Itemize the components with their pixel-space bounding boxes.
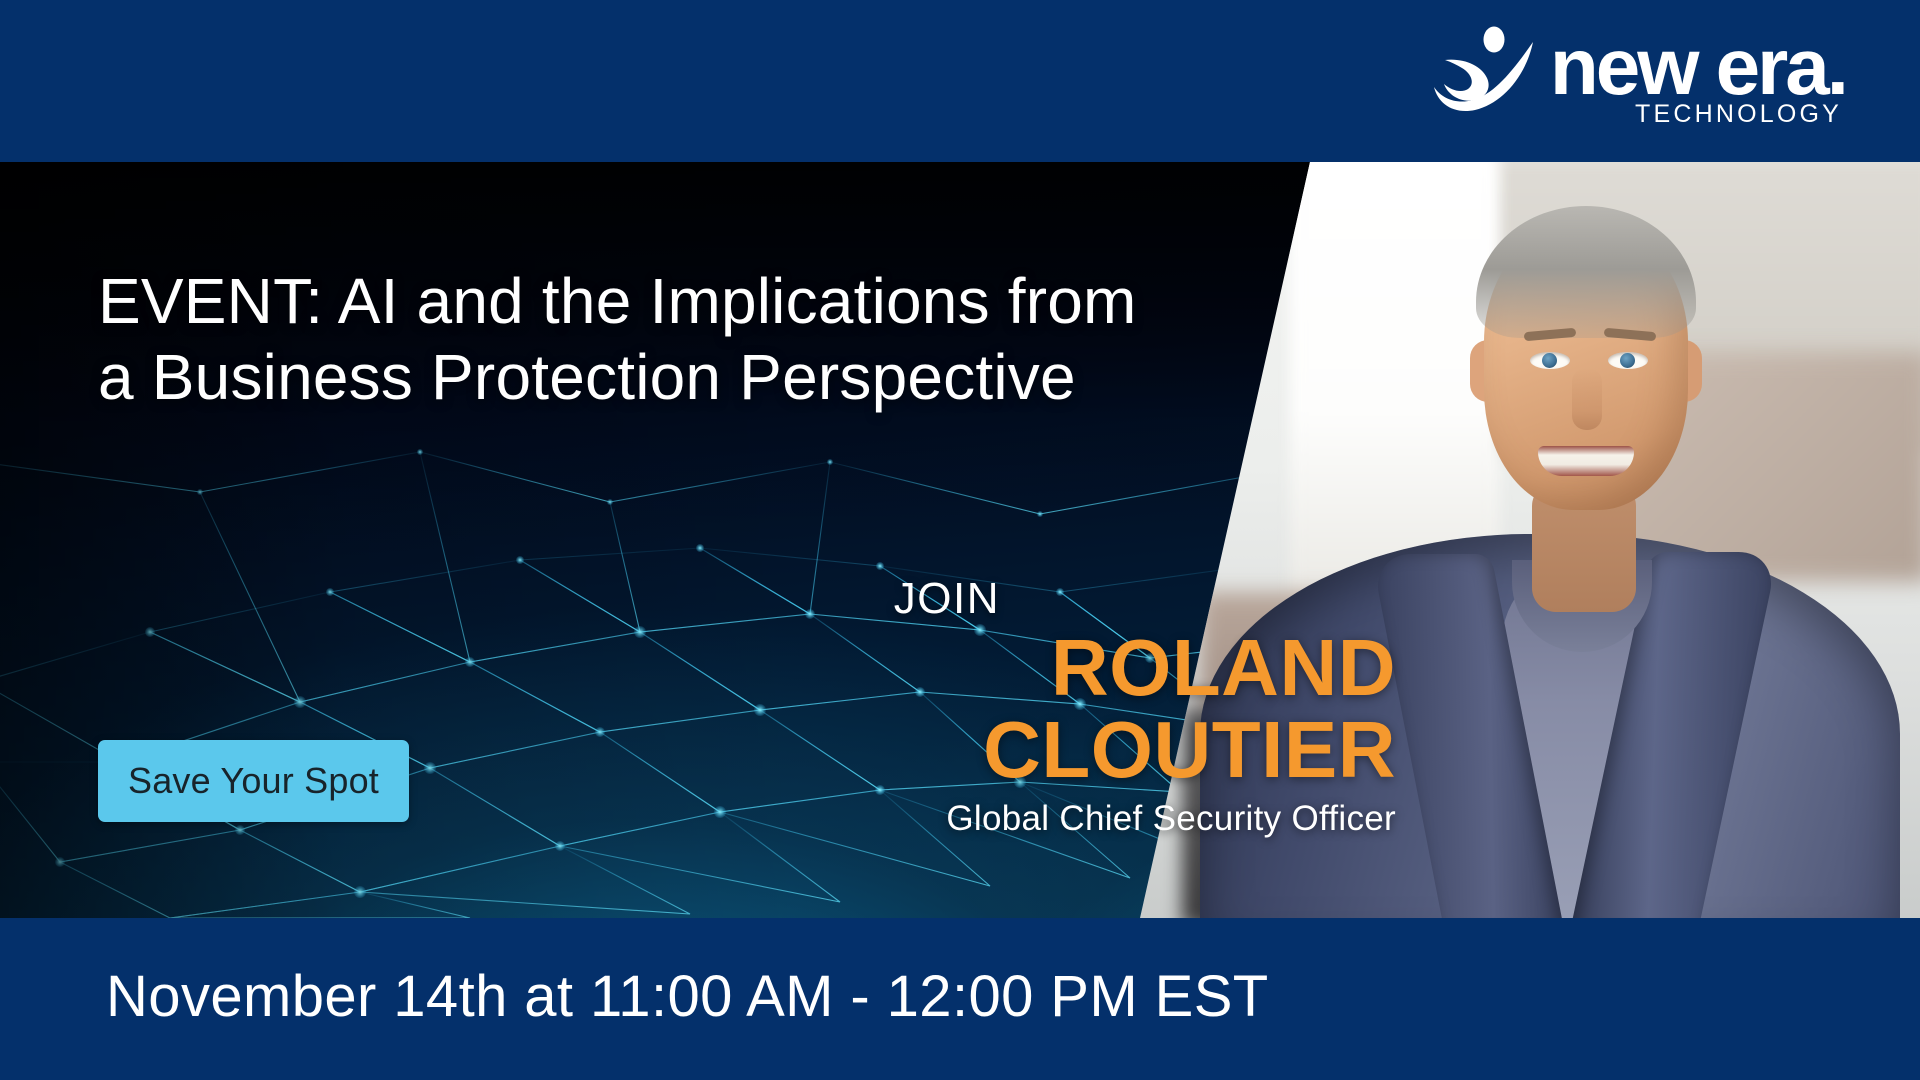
header-bar: new era. TECHNOLOGY <box>0 0 1920 162</box>
speaker-join-label: JOIN <box>0 577 1396 621</box>
speaker-mouth <box>1538 446 1634 476</box>
speaker-first-name: ROLAND <box>0 627 1396 709</box>
speaker-info-block: JOIN ROLAND CLOUTIER Global Chief Securi… <box>0 577 1396 840</box>
speaker-iris-right <box>1620 353 1635 368</box>
speaker-nose <box>1572 368 1602 430</box>
speaker-last-name: CLOUTIER <box>0 709 1396 791</box>
person-swoosh-icon <box>1432 26 1536 118</box>
speaker-role: Global Chief Security Officer <box>0 798 1396 840</box>
speaker-name: ROLAND CLOUTIER <box>0 627 1396 790</box>
hero-section: EVENT: AI and the Implications from a Bu… <box>0 162 1920 918</box>
logo-text-block: new era. TECHNOLOGY <box>1550 26 1846 127</box>
new-era-logo[interactable]: new era. TECHNOLOGY <box>1432 26 1846 127</box>
event-datetime: November 14th at 11:00 AM - 12:00 PM EST <box>106 968 1269 1026</box>
event-title: EVENT: AI and the Implications from a Bu… <box>98 263 1158 415</box>
footer-bar: November 14th at 11:00 AM - 12:00 PM EST <box>0 918 1920 1080</box>
logo-wordmark: new era. <box>1550 30 1846 104</box>
speaker-iris-left <box>1542 353 1557 368</box>
event-promo-banner: new era. TECHNOLOGY <box>0 0 1920 1080</box>
